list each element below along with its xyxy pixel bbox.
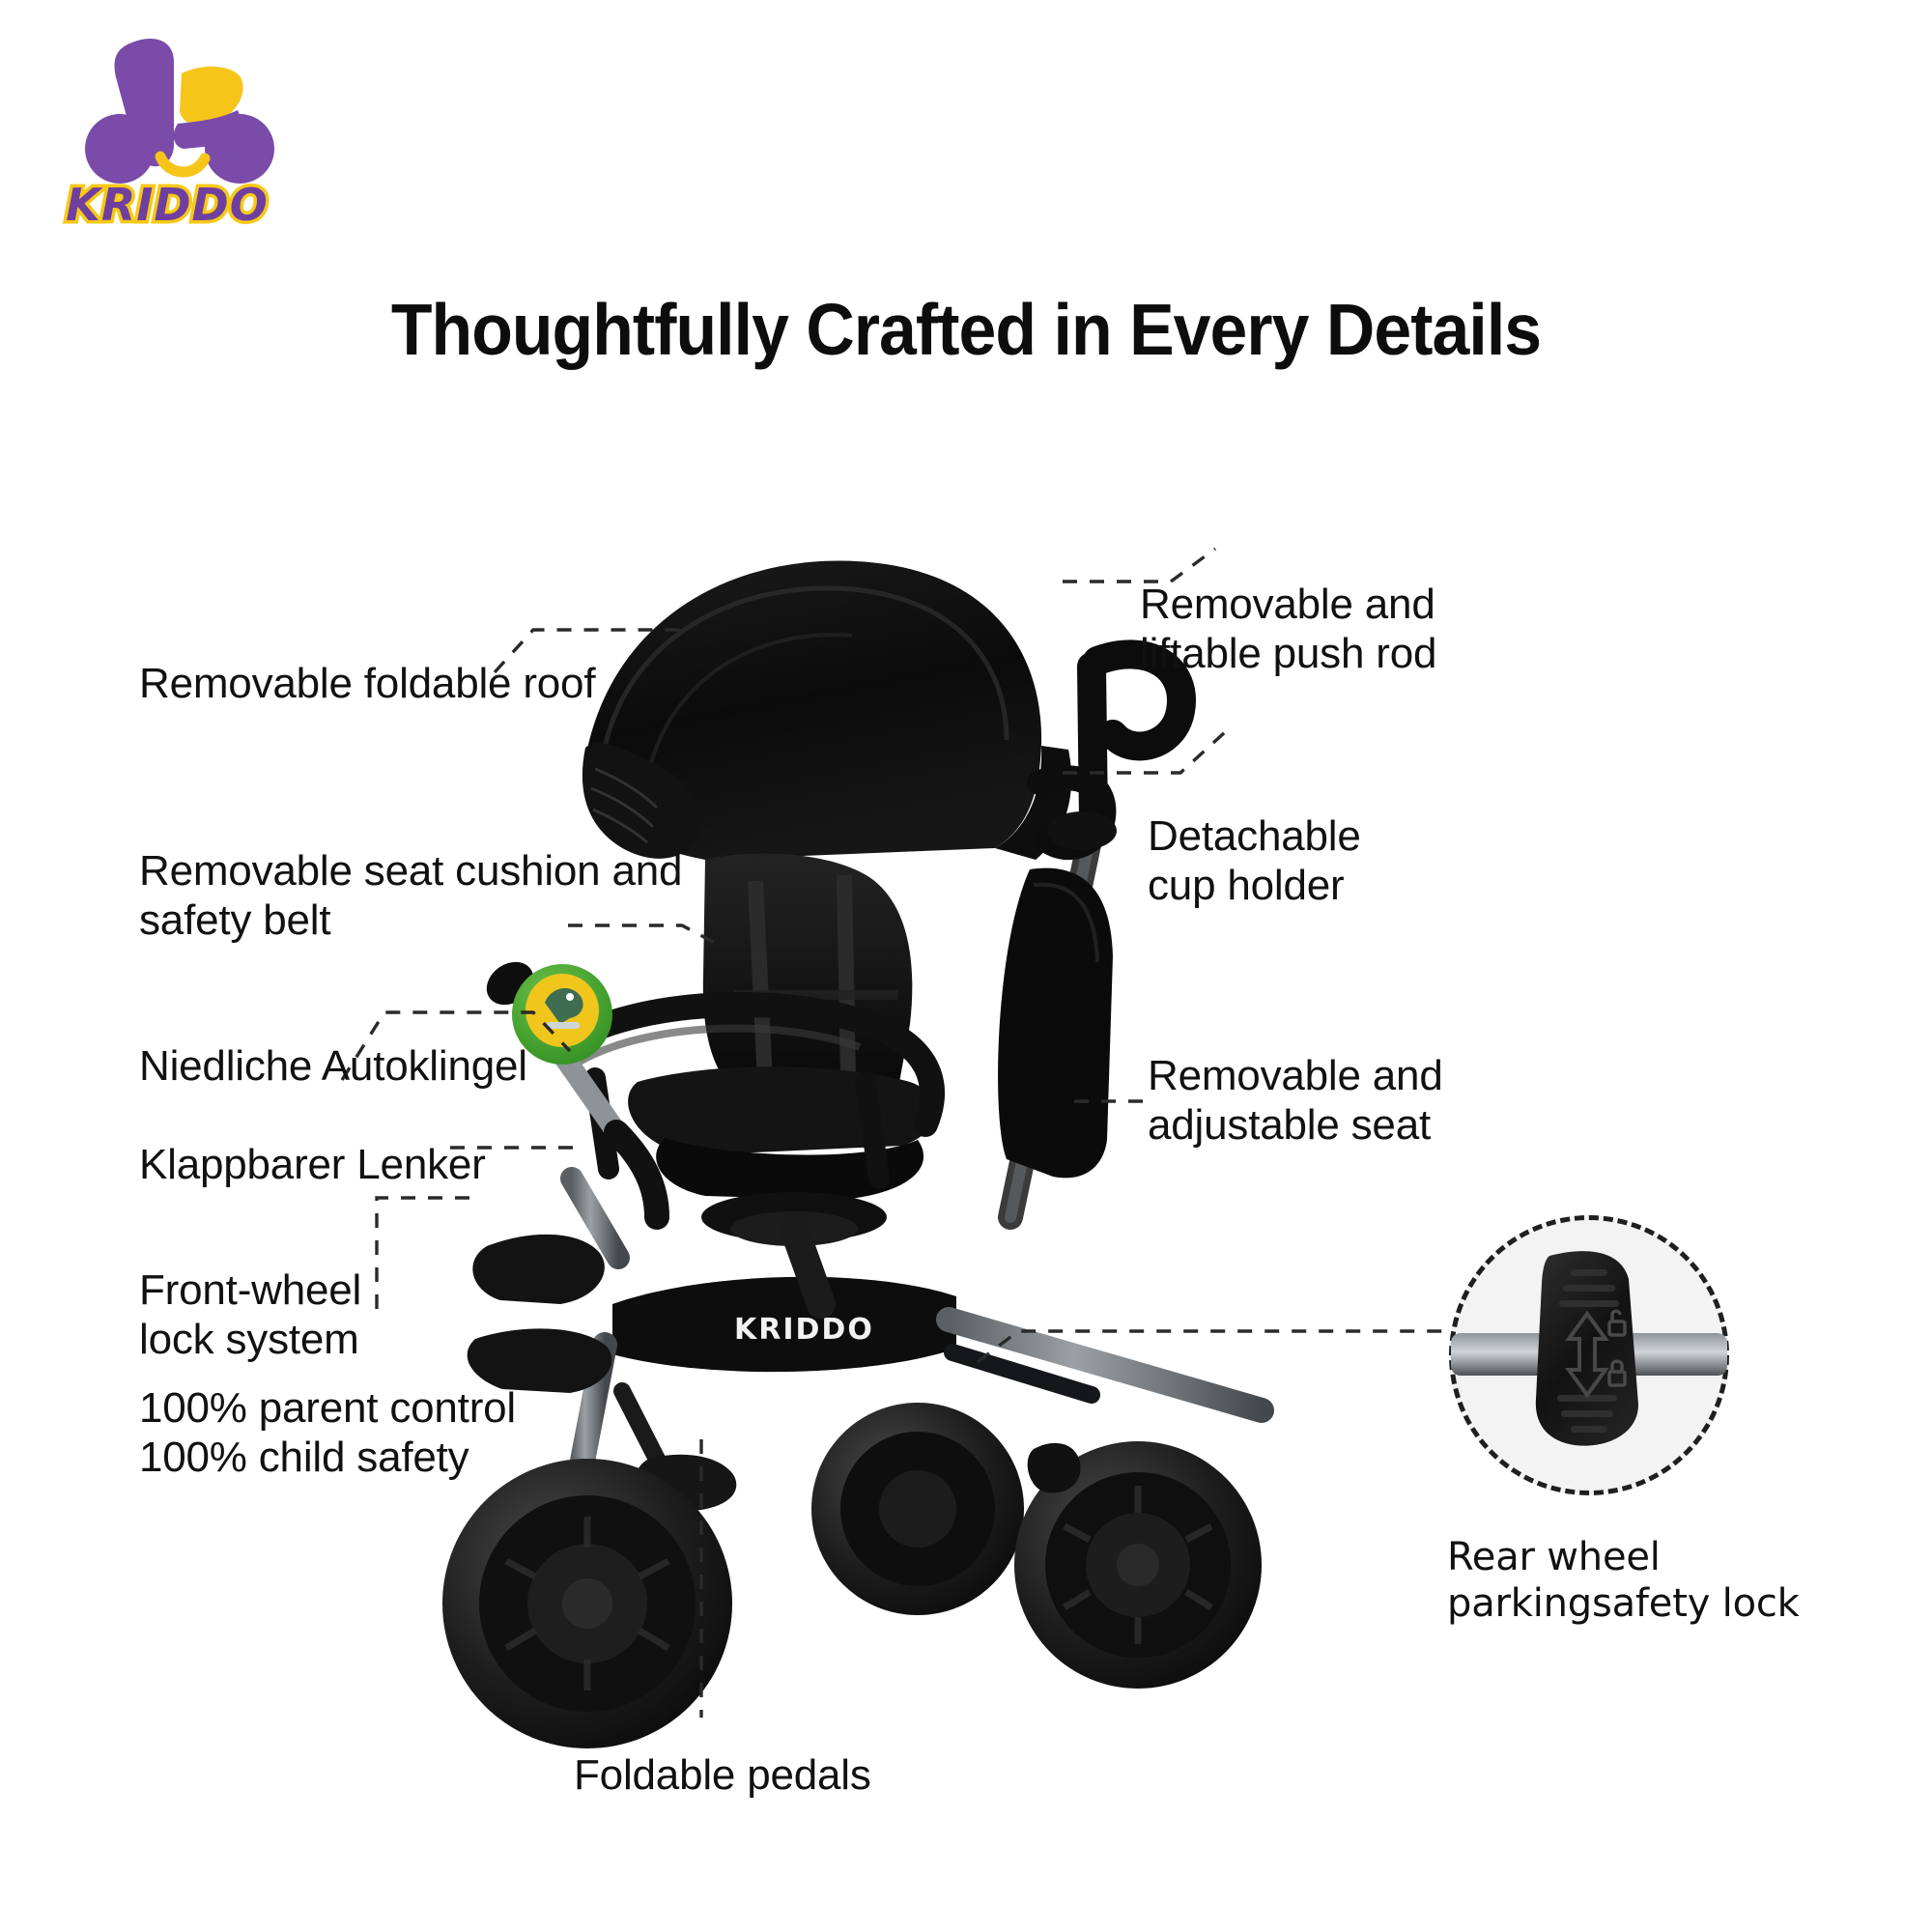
callout-front-wheel-lock-system: Front-wheel lock system	[139, 1265, 361, 1364]
callout-parent-control: 100% parent control 100% child safety	[139, 1383, 516, 1482]
rear-wheel-lock-inset	[1449, 1215, 1729, 1495]
leader-parking-lock	[978, 1329, 1461, 1364]
callout-klappbarer-lenker: Klappbarer Lenker	[139, 1140, 486, 1189]
callout-detachable-cup-holder: Detachable cup holder	[1148, 811, 1361, 910]
frame-badge: KRIDDO	[734, 1313, 874, 1347]
callout-niedliche-autoklingel: Niedliche Autoklingel	[139, 1041, 527, 1091]
brand-logo: KRIDDO	[60, 27, 292, 249]
infographic-canvas: KRIDDO Thoughtfully Crafted in Every Det…	[0, 0, 1932, 1932]
leader-foldable-pedals	[688, 1439, 717, 1719]
callout-removable-foldable-roof: Removable foldable roof	[139, 659, 595, 708]
brand-wordmark: KRIDDO	[66, 179, 269, 231]
callout-foldable-pedals: Foldable pedals	[574, 1750, 871, 1800]
callout-removable-seat-cushion: Removable seat cushion and safety belt	[139, 846, 682, 945]
rear-brake-pedal	[1028, 1443, 1081, 1493]
leader-cup-holder	[1063, 730, 1227, 775]
callout-removable-adjustable-seat: Removable and adjustable seat	[1148, 1051, 1443, 1150]
brake-pedal-lock-icon	[1449, 1215, 1729, 1495]
callout-removable-liftable-push-rod: Removable and liftable push rod	[1140, 580, 1436, 678]
leader-front-wheel-lock	[355, 1196, 471, 1321]
product-photo: KRIDDO	[415, 541, 1517, 1797]
callout-rear-wheel-parking-safety-lock: Rear wheel parkingsafety lock	[1447, 1534, 1800, 1627]
middle-wheel	[811, 1403, 1024, 1615]
stroller-logo-icon	[60, 27, 292, 191]
storage-bag	[998, 868, 1113, 1179]
leader-adjustable-seat	[1074, 1094, 1151, 1109]
page-title: Thoughtfully Crafted in Every Details	[68, 288, 1864, 371]
